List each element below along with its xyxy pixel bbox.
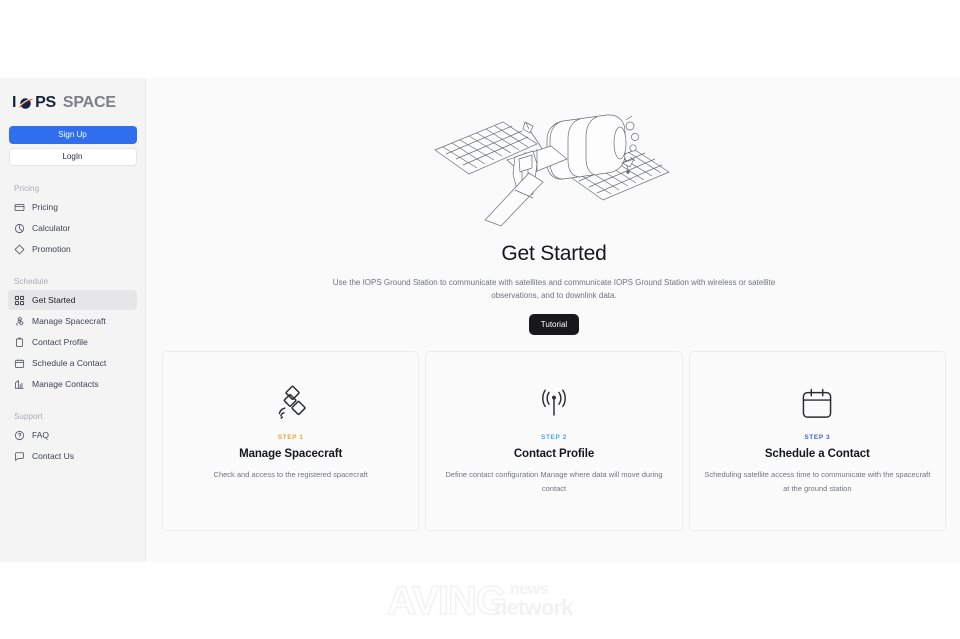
logo-letters-ps: PS: [35, 94, 56, 112]
watermark-network-text: network: [494, 598, 573, 619]
watermark-sub: news network: [494, 582, 573, 618]
card-title: Manage Spacecraft: [175, 448, 406, 460]
main-content: Get Started Use the IOPS Ground Station …: [146, 78, 960, 562]
sidebar-item-get-started[interactable]: Get Started: [8, 290, 137, 310]
calendar-icon: [14, 358, 25, 369]
sidebar-item-faq[interactable]: FAQ: [8, 425, 137, 445]
sidebar-item-manage-contacts[interactable]: Manage Contacts: [8, 374, 137, 394]
sidebar-item-label: Contact Profile: [32, 337, 88, 347]
nav-group-title-support: Support: [8, 412, 137, 421]
watermark-inner: AVING news network: [387, 581, 572, 621]
step-badge: STEP 1: [175, 434, 406, 441]
top-whitespace-band: [0, 0, 960, 78]
tutorial-button-wrap: Tutorial: [156, 314, 952, 335]
sidebar: I PS SPACE Sign Up LogIn Pricing: [0, 78, 146, 562]
card-description: Check and access to the registered space…: [175, 468, 406, 481]
page-description: Use the IOPS Ground Station to communica…: [319, 276, 789, 302]
calendar-icon: [702, 378, 933, 430]
logo-letter-i: I: [12, 94, 16, 112]
sidebar-item-contact-us[interactable]: Contact Us: [8, 446, 137, 466]
nav-group-title-pricing: Pricing: [8, 184, 137, 193]
brand-logo[interactable]: I PS SPACE: [8, 88, 137, 114]
sidebar-item-pricing[interactable]: Pricing: [8, 197, 137, 217]
app-shell: I PS SPACE Sign Up LogIn Pricing: [0, 78, 960, 562]
sidebar-item-promotion[interactable]: Promotion: [8, 239, 137, 259]
step-card-manage-spacecraft[interactable]: STEP 1 Manage Spacecraft Check and acces…: [162, 351, 419, 531]
step-badge: STEP 2: [438, 434, 669, 441]
sidebar-item-label: FAQ: [32, 430, 49, 440]
watermark-main-text: AVING: [387, 581, 506, 621]
bar-chart-icon: [14, 379, 25, 390]
main-panel: Get Started Use the IOPS Ground Station …: [156, 84, 952, 562]
card-title: Contact Profile: [438, 448, 669, 460]
watermark: AVING news network: [0, 562, 960, 639]
planet-orbit-icon: [18, 96, 33, 111]
grid-icon: [14, 295, 25, 306]
sidebar-item-label: Contact Us: [32, 451, 74, 461]
sidebar-item-contact-profile[interactable]: Contact Profile: [8, 332, 137, 352]
step-badge: STEP 3: [702, 434, 933, 441]
tutorial-button[interactable]: Tutorial: [529, 314, 579, 335]
question-circle-icon: [14, 430, 25, 441]
sidebar-item-label: Calculator: [32, 223, 70, 233]
sidebar-item-label: Pricing: [32, 202, 58, 212]
satellite-icon: [14, 316, 25, 327]
pie-chart-icon: [14, 223, 25, 234]
satellite-icon: [175, 378, 406, 430]
step-card-contact-profile[interactable]: STEP 2 Contact Profile Define contact co…: [425, 351, 682, 531]
logo-word-space: SPACE: [63, 94, 116, 112]
app-page: I PS SPACE Sign Up LogIn Pricing: [0, 0, 960, 639]
card-description: Define contact configuration Manage wher…: [438, 468, 669, 494]
step-cards: STEP 1 Manage Spacecraft Check and acces…: [156, 351, 952, 531]
antenna-signal-icon: [438, 378, 669, 430]
tag-icon: [14, 244, 25, 255]
sidebar-item-schedule-a-contact[interactable]: Schedule a Contact: [8, 353, 137, 373]
sidebar-item-label: Manage Contacts: [32, 379, 99, 389]
page-title: Get Started: [156, 242, 952, 266]
sidebar-item-calculator[interactable]: Calculator: [8, 218, 137, 238]
clipboard-icon: [14, 337, 25, 348]
chat-bubble-icon: [14, 451, 25, 462]
credit-card-icon: [14, 202, 25, 213]
sidebar-item-label: Schedule a Contact: [32, 358, 106, 368]
sidebar-item-label: Promotion: [32, 244, 71, 254]
satellite-line-art-illustration: [156, 84, 952, 234]
sidebar-item-manage-spacecraft[interactable]: Manage Spacecraft: [8, 311, 137, 331]
card-description: Scheduling satellite access time to comm…: [702, 468, 933, 494]
step-card-schedule-a-contact[interactable]: STEP 3 Schedule a Contact Scheduling sat…: [689, 351, 946, 531]
sidebar-item-label: Get Started: [32, 295, 75, 305]
sign-up-button[interactable]: Sign Up: [9, 126, 137, 144]
sidebar-item-label: Manage Spacecraft: [32, 316, 106, 326]
login-button[interactable]: LogIn: [9, 148, 137, 166]
card-title: Schedule a Contact: [702, 448, 933, 460]
nav-group-title-schedule: Schedule: [8, 277, 137, 286]
